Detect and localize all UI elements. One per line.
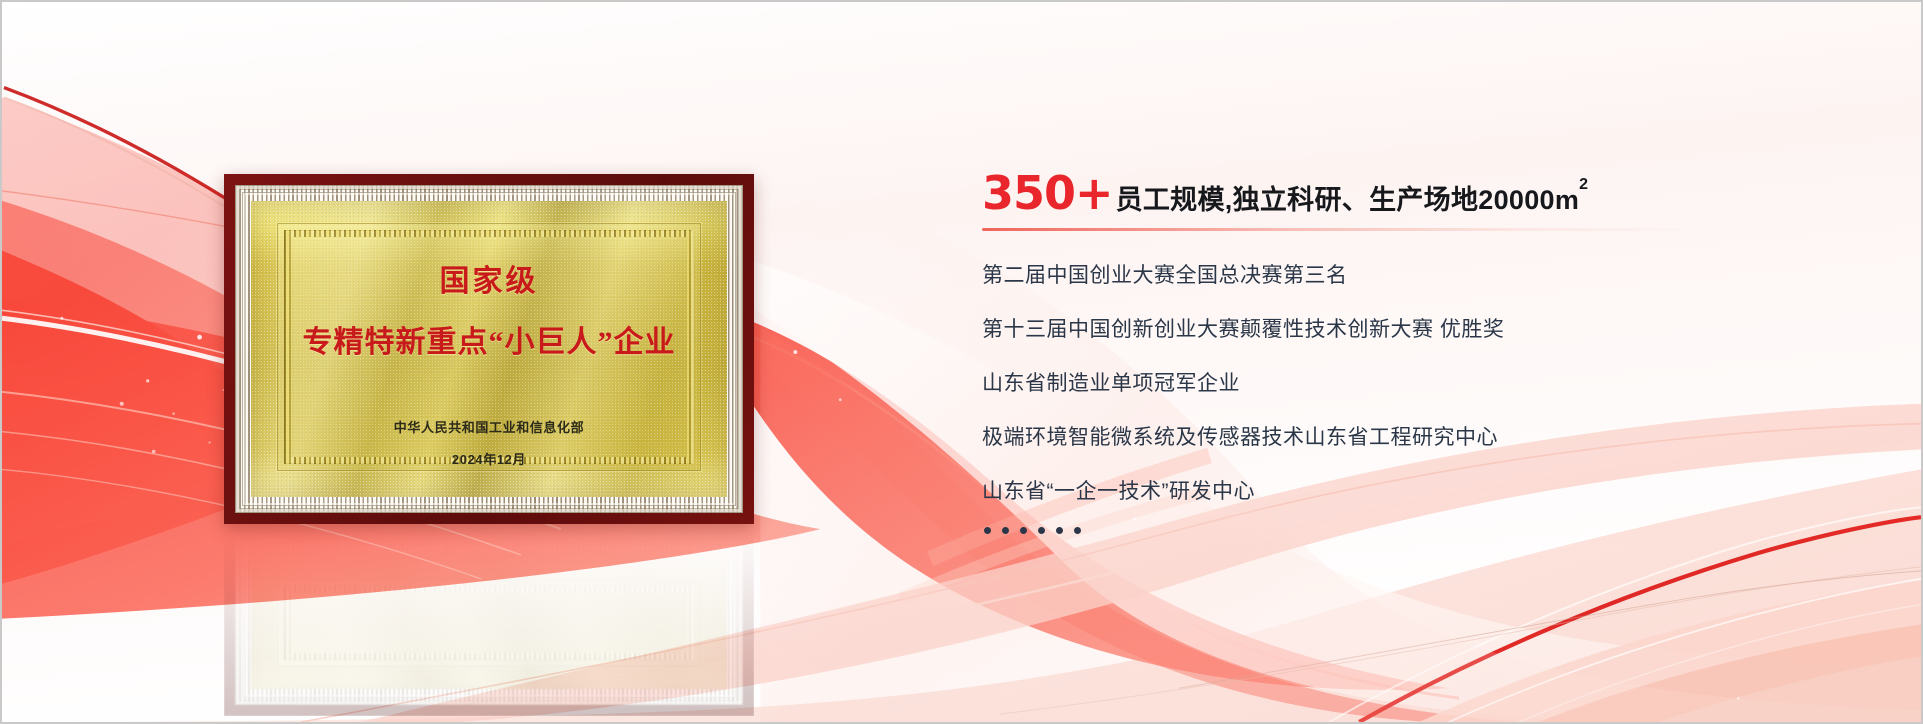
award-plaque: 国家级 专精特新重点“小巨人”企业 中华人民共和国工业和信息化部 2024年12…: [224, 174, 754, 524]
ellipsis-dot: [984, 527, 991, 534]
honors-banner: 国家级 专精特新重点“小巨人”企业 中华人民共和国工业和信息化部 2024年12…: [0, 0, 1923, 724]
plaque-issuer: 中华人民共和国工业和信息化部: [394, 417, 584, 436]
content-column: 350+ 员工规模,独立科研、生产场地20000m2 第二届中国创业大赛全国总决…: [982, 170, 1762, 534]
plaque-gold-field: 国家级 专精特新重点“小巨人”企业 中华人民共和国工业和信息化部 2024年12…: [251, 201, 727, 497]
ellipsis-dots: [982, 527, 1762, 534]
ellipsis-dot: [1056, 527, 1063, 534]
plaque-title-line2: 专精特新重点“小巨人”企业: [303, 317, 676, 361]
headline-underline: [982, 228, 1704, 231]
list-item: 第二届中国创业大赛全国总决赛第三名: [982, 265, 1762, 286]
list-item: 极端环境智能微系统及传感器技术山东省工程研究中心: [982, 427, 1762, 448]
headline: 350+ 员工规模,独立科研、生产场地20000m2: [982, 170, 1762, 226]
headline-superscript: 2: [1579, 176, 1588, 193]
honors-list: 第二届中国创业大赛全国总决赛第三名 第十三届中国创新创业大赛颠覆性技术创新大赛 …: [982, 265, 1762, 502]
list-item: 第十三届中国创新创业大赛颠覆性技术创新大赛 优胜奖: [982, 319, 1762, 340]
headline-text-main: 员工规模,独立科研、生产场地20000m: [1116, 185, 1580, 215]
headline-number: 350+: [982, 170, 1113, 216]
plaque-date: 2024年12月: [452, 449, 526, 468]
ellipsis-dot: [1038, 527, 1045, 534]
plaque-text-block: 国家级 专精特新重点“小巨人”企业 中华人民共和国工业和信息化部 2024年12…: [251, 201, 727, 497]
ellipsis-dot: [1020, 527, 1027, 534]
list-item: 山东省“一企一技术”研发中心: [982, 481, 1762, 502]
list-item: 山东省制造业单项冠军企业: [982, 373, 1762, 394]
ellipsis-dot: [1002, 527, 1009, 534]
plaque-frame: 国家级 专精特新重点“小巨人”企业 中华人民共和国工业和信息化部 2024年12…: [224, 174, 754, 524]
headline-text: 员工规模,独立科研、生产场地20000m2: [1116, 186, 1589, 216]
plaque-title-line1: 国家级: [440, 256, 539, 300]
ellipsis-dot: [1074, 527, 1081, 534]
